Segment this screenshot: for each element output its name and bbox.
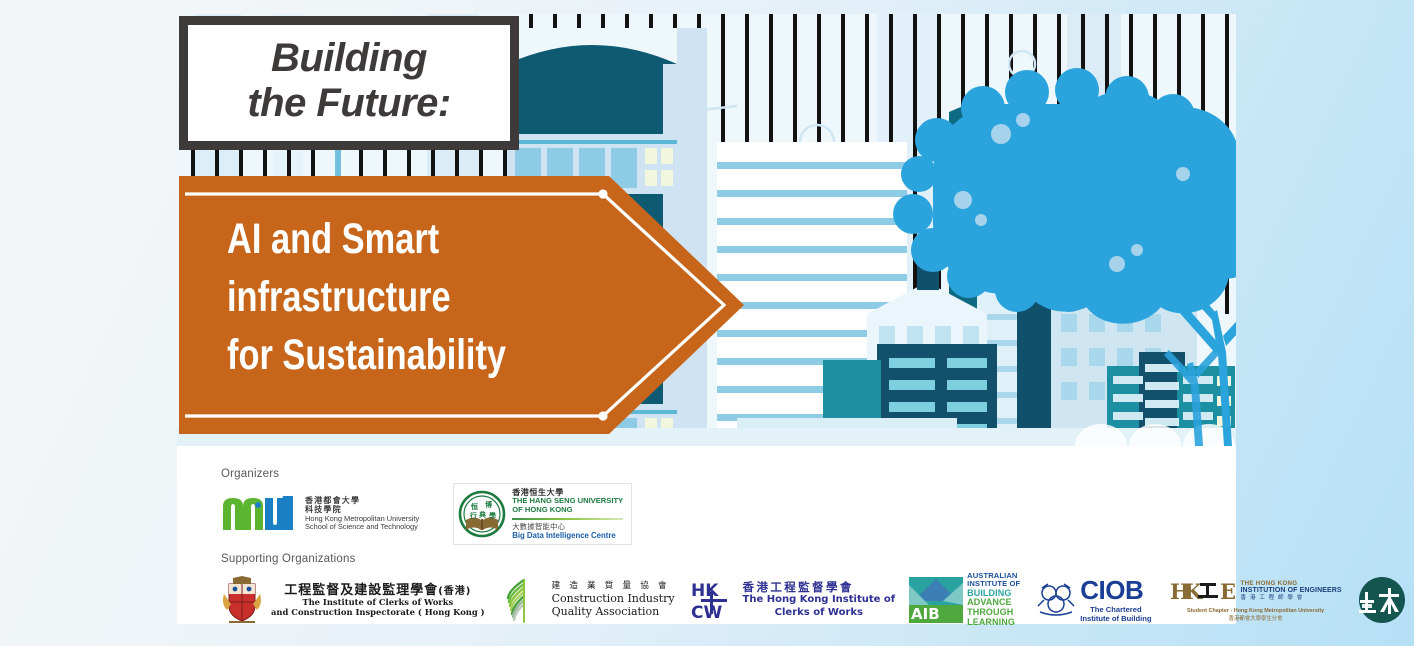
hsu-box: 恒博 行典學 香港恒生大學 THE HANG SENG UNIVERSITY O…: [453, 483, 632, 546]
hero-cityscape-illustration: Building the Future: AI and Smart infras…: [177, 14, 1236, 446]
title-line-2: the Future:: [247, 81, 450, 126]
ciob-crest-icon: [1036, 582, 1076, 618]
svg-text:恒: 恒: [470, 502, 478, 511]
sponsors-footer-panel: Organizers 香港都會大學 科技學院 Hong Kong Metropo…: [177, 446, 1236, 624]
hkicw-mark-bottom: CW: [691, 603, 722, 622]
aib-mark-text: AIB: [911, 605, 940, 623]
hkie-text: THE HONG KONG INSTITUTION OF ENGINEERS 香…: [1241, 580, 1342, 602]
svg-text:E: E: [1220, 579, 1236, 604]
poster: Building the Future: AI and Smart infras…: [177, 14, 1236, 624]
hkie-mark-icon: H K E: [1170, 578, 1236, 604]
organizers-label: Organizers: [221, 468, 1236, 480]
hkie-f2: 香港都會大學學生分會: [1187, 614, 1324, 622]
orange-arrow-banner: AI and Smart infrastructure for Sustaina…: [179, 176, 744, 434]
logo-hkie: H K E THE HONG KONG INSTITUTION OF ENGIN…: [1170, 578, 1342, 622]
hkmu-en-2: School of Science and Technology: [305, 523, 419, 532]
icw-crest-icon: [221, 576, 263, 624]
hsu-divider: [512, 518, 623, 520]
title-line-1: Building: [271, 36, 427, 81]
ciqa-en-2: Quality Association: [552, 605, 675, 618]
ciqa-text: 建 造 業 質 量 協 會 Construction Industry Qual…: [552, 582, 675, 619]
hkie-footnote: Student Chapter - Hong Kong Metropolitan…: [1187, 608, 1324, 622]
logo-aib: AIB AUSTRALIAN INSTITUTE OF BUILDING ADV…: [909, 572, 1020, 628]
logo-icw-hk: 工程監督及建設監理學會(香港) The Institute of Clerks …: [221, 576, 485, 624]
ciqa-zh: 建 造 業 質 量 協 會: [552, 582, 675, 592]
logo-ciob: CIOB The Chartered Institute of Building: [1036, 577, 1151, 623]
hsu-zh-2: 大數據智能中心: [512, 523, 623, 531]
arrow-line-1: AI and Smart: [227, 210, 571, 268]
ciqa-en-1: Construction Industry: [552, 592, 675, 605]
aib-mark-icon: AIB: [909, 577, 963, 623]
arrow-line-3: for Sustainability: [227, 326, 571, 384]
logo-ciqa: 建 造 業 質 量 協 會 Construction Industry Qual…: [503, 576, 675, 624]
svg-text:K: K: [1184, 579, 1203, 604]
hsu-en-2: OF HONG KONG: [512, 506, 623, 515]
logo-hkmu: 香港都會大學 科技學院 Hong Kong Metropolitan Unive…: [221, 494, 419, 534]
ciob-sub-2: Institute of Building: [1080, 614, 1151, 623]
organizers-logo-row: 香港都會大學 科技學院 Hong Kong Metropolitan Unive…: [221, 487, 1236, 541]
hkie-l3: 香 港 工 程 師 學 會: [1241, 595, 1342, 601]
hkicw-mark-top: HK: [691, 581, 719, 601]
ciqa-tree-icon: [503, 576, 545, 624]
supporting-logo-row: 工程監督及建設監理學會(香港) The Institute of Clerks …: [221, 572, 1236, 628]
hkie-l1: THE HONG KONG: [1241, 580, 1342, 587]
logo-civil-circle: [1358, 576, 1406, 624]
supporting-label: Supporting Organizations: [221, 553, 1236, 565]
ciob-sub-1: The Chartered: [1080, 605, 1151, 614]
arrow-line-2: infrastructure: [227, 268, 571, 326]
hsu-seal-icon: 恒博 行典學: [458, 490, 506, 538]
ciob-text: CIOB The Chartered Institute of Building: [1080, 577, 1151, 623]
svg-text:博: 博: [485, 500, 492, 509]
icw-en-2: and Construction Inspectorate ( Hong Kon…: [271, 608, 485, 618]
arrow-banner-text: AI and Smart infrastructure for Sustaina…: [227, 210, 657, 384]
hkicw-en-1: The Hong Kong Institute of: [743, 594, 896, 607]
hkicw-mark-icon: HK CW: [691, 578, 737, 622]
svg-text:典: 典: [479, 510, 486, 519]
civil-engineering-circle-icon: [1358, 576, 1406, 624]
hkmu-text: 香港都會大學 科技學院 Hong Kong Metropolitan Unive…: [305, 496, 419, 532]
svg-text:行: 行: [469, 511, 477, 520]
aib-l6: LEARNING: [967, 618, 1020, 628]
aib-text: AUSTRALIAN INSTITUTE OF BUILDING ADVANCE…: [967, 572, 1020, 628]
ciob-mark: CIOB: [1080, 577, 1151, 603]
logo-hsu: 恒博 行典學 香港恒生大學 THE HANG SENG UNIVERSITY O…: [453, 483, 632, 546]
hkicw-zh: 香港工程監督學會: [743, 581, 896, 594]
logo-hkicw: HK CW 香港工程監督學會 The Hong Kong Institute o…: [691, 578, 896, 622]
hsu-text: 香港恒生大學 THE HANG SENG UNIVERSITY OF HONG …: [512, 488, 623, 541]
svg-text:學: 學: [489, 511, 496, 520]
hkicw-en-2: Clerks of Works: [743, 607, 896, 620]
hsu-en-3: Big Data Intelligence Centre: [512, 531, 623, 540]
icw-zh: 工程監督及建設監理學會(香港): [271, 583, 485, 598]
icw-text: 工程監督及建設監理學會(香港) The Institute of Clerks …: [271, 583, 485, 618]
hkicw-text: 香港工程監督學會 The Hong Kong Institute of Cler…: [743, 581, 896, 619]
poster-title-card: Building the Future:: [179, 16, 519, 150]
hkmu-mark-icon: [221, 494, 297, 534]
